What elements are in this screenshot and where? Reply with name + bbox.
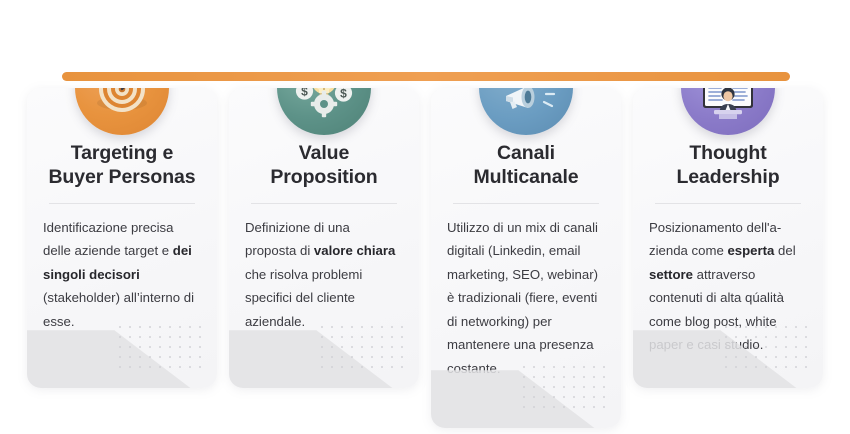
card-targeting[interactable]: Targeting e Buyer Personas Identificazio… <box>27 88 217 388</box>
card-body: Posizionamento dell'a-zienda come espert… <box>649 216 807 357</box>
megaphone-linkedin-email-icon: in <box>479 88 573 135</box>
card-divider <box>251 203 397 204</box>
card-value-proposition[interactable]: $ $ Value Proposition <box>229 88 419 388</box>
lightbulb-gear-money-icon: $ $ <box>277 88 371 135</box>
card-body: Utilizzo di un mix di canali digitali (L… <box>447 216 605 381</box>
card-divider <box>49 203 195 204</box>
svg-text:$: $ <box>301 88 308 99</box>
svg-text:$: $ <box>340 88 347 101</box>
card-canali-multicanale[interactable]: in Canali Mul <box>431 88 621 428</box>
card-body: Identificazione precisa delle aziende ta… <box>43 216 201 334</box>
target-dartboard-icon <box>75 88 169 135</box>
card-divider <box>453 203 599 204</box>
card-title: Value Proposition <box>245 142 403 190</box>
card-thought-leadership[interactable]: Thought Leadership Posizionamento dell'a… <box>633 88 823 388</box>
card-title: Targeting e Buyer Personas <box>43 142 201 190</box>
card-divider <box>655 203 801 204</box>
presenter-screen-lightbulb-icon <box>681 88 775 135</box>
card-body: Definizione di una proposta di valore ch… <box>245 216 403 334</box>
card-title: Canali Multicanale <box>447 142 605 190</box>
card-title: Thought Leadership <box>649 142 807 190</box>
cards-row: Targeting e Buyer Personas Identificazio… <box>0 0 850 434</box>
infographic-canvas: Targeting e Buyer Personas Identificazio… <box>0 0 850 434</box>
